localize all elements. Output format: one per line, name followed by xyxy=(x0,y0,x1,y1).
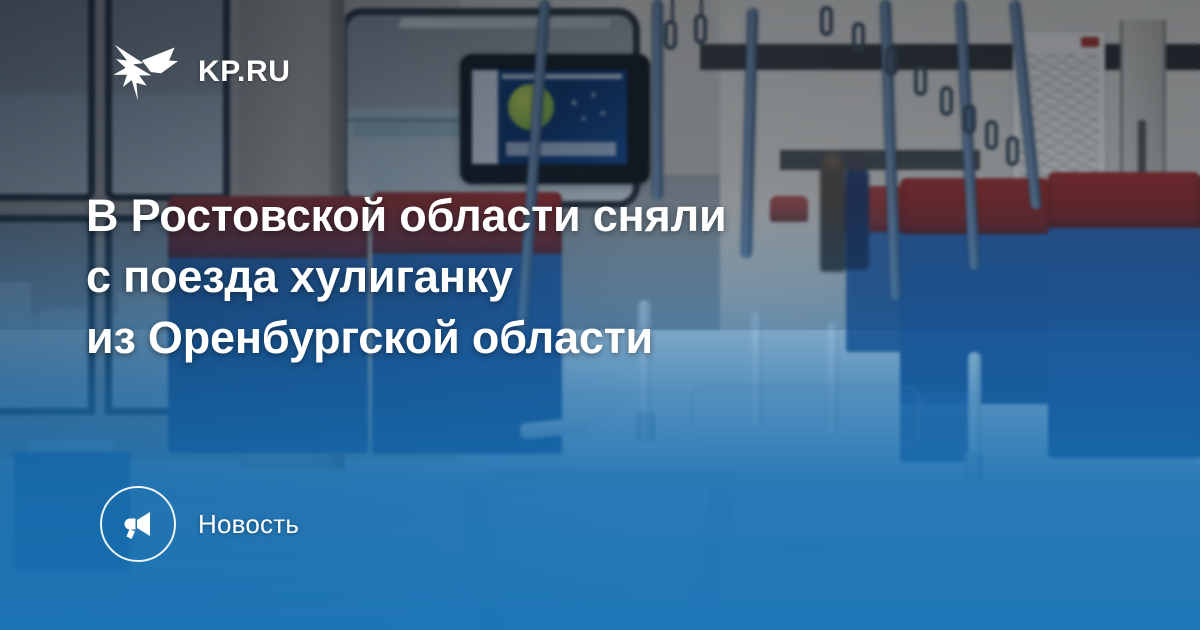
headline: В Ростовской области сняли с поезда хули… xyxy=(86,185,986,369)
badge-circle xyxy=(100,486,176,562)
brand-name: KP.RU xyxy=(198,57,290,87)
brand-logo[interactable]: KP.RU xyxy=(112,38,290,106)
swallow-bird-icon xyxy=(112,38,180,106)
badge-label: Новость xyxy=(198,509,299,540)
news-card: KP.RU В Ростовской области сняли с поезд… xyxy=(0,0,1200,630)
megaphone-icon xyxy=(118,504,158,544)
news-badge[interactable]: Новость xyxy=(100,486,299,562)
